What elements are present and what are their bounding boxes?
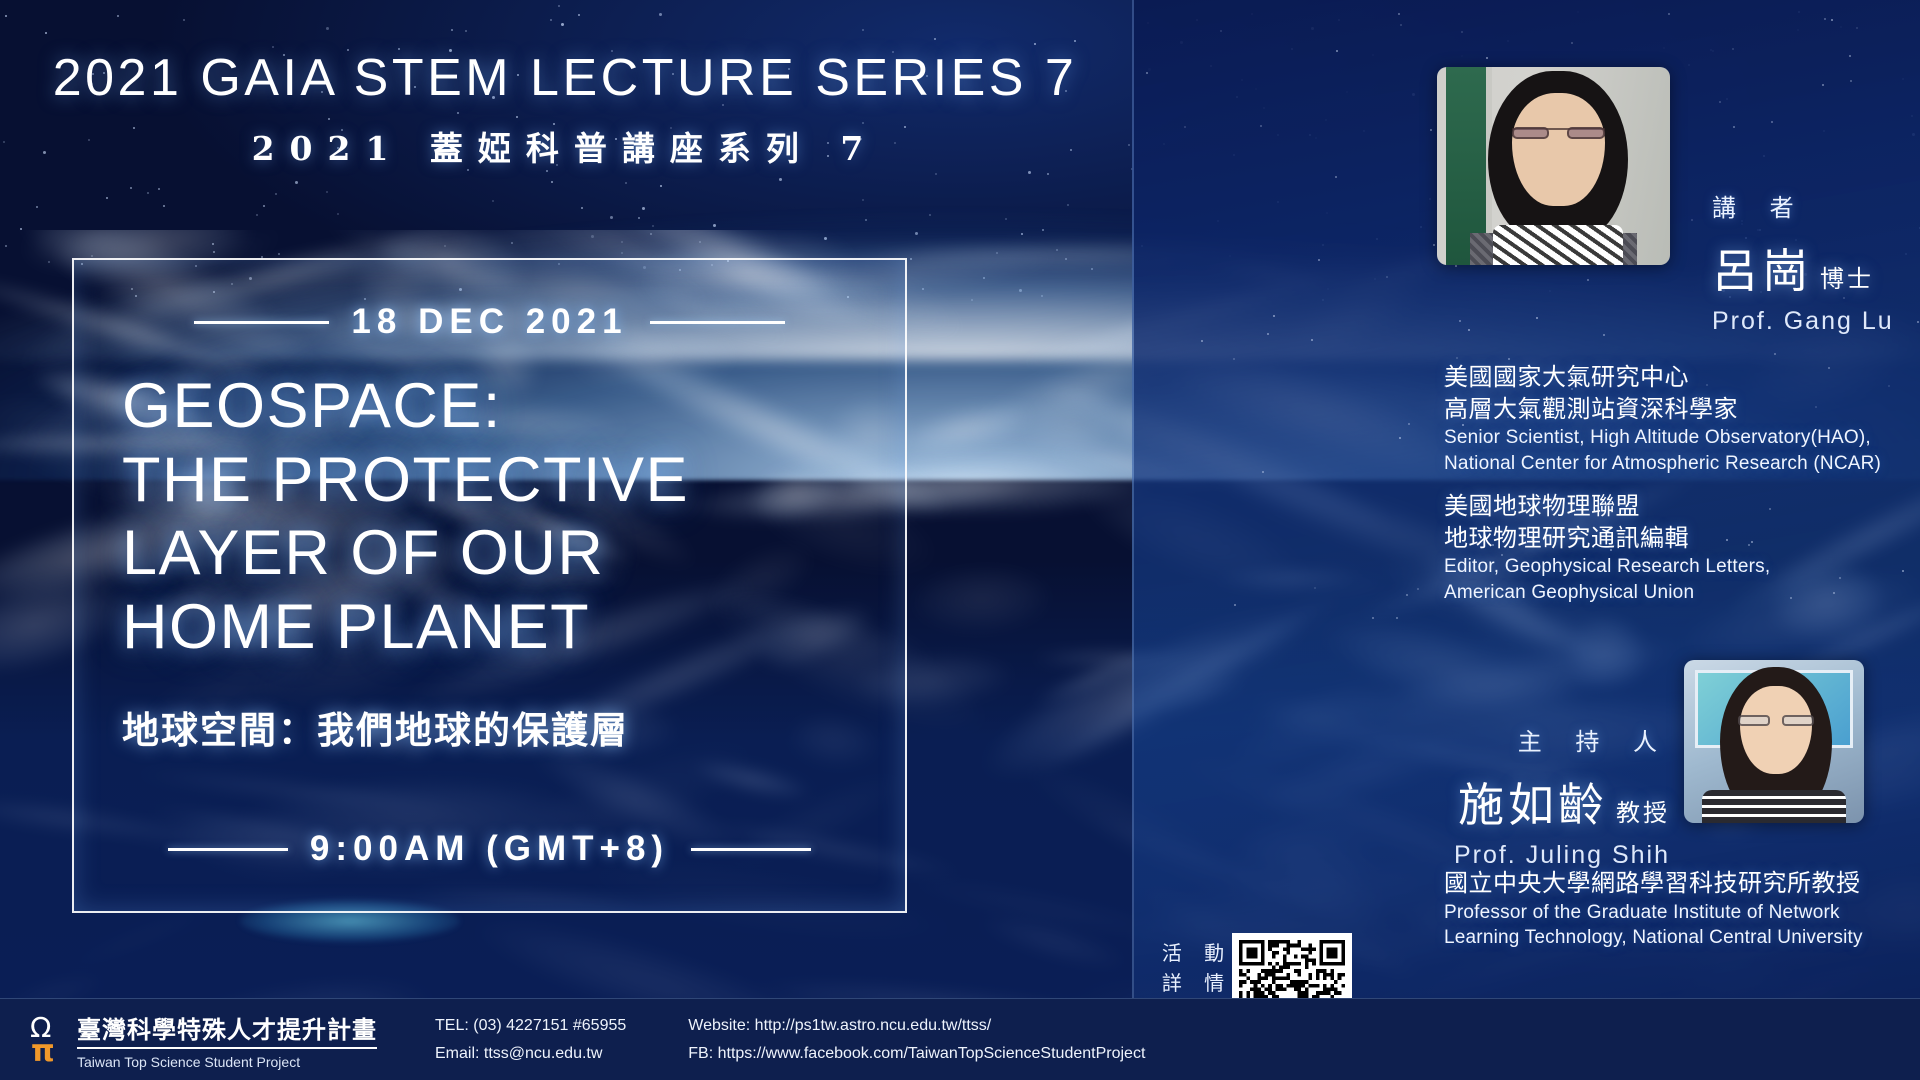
contact-email[interactable]: Email: ttss@ncu.edu.tw [435,1040,626,1068]
speaker-info: 講 者 呂崗 博士 Prof. Gang Lu [1712,188,1894,336]
affiliation-en-line-1: Senior Scientist, High Altitude Observat… [1444,425,1906,450]
host-info: 主 持 人 施如齡 教授 Prof. Juling Shih [1442,722,1670,870]
host-name-english: Prof. Juling Shih [1442,841,1670,870]
divider-left [194,321,329,324]
host-affiliation: 國立中央大學網路學習科技研究所教授 Professor of the Gradu… [1444,868,1906,951]
host-portrait [1684,660,1864,823]
poster-header: 2021 GAIA STEM LECTURE SERIES 7 2021 蓋婭科… [0,48,1130,170]
speaker-degree: 博士 [1820,259,1874,294]
host-affiliation-zh: 國立中央大學網路學習科技研究所教授 [1444,868,1906,900]
host-affiliation-en-line-1: Professor of the Graduate Institute of N… [1444,900,1906,925]
affiliation2-zh-line-1: 美國地球物理聯盟 [1444,491,1906,523]
event-date-row: 18 DEC 2021 [74,302,905,342]
event-time: 9:00AM (GMT+8) [310,829,669,869]
page-title: 2021 GAIA STEM LECTURE SERIES 7 [0,48,1130,108]
talk-title-chinese: 地球空間：我們地球的保護層 [122,700,882,754]
facebook-link[interactable]: FB: https://www.facebook.com/TaiwanTopSc… [688,1040,1145,1068]
host-photo [1684,660,1864,823]
website-link[interactable]: Website: http://ps1tw.astro.ncu.edu.tw/t… [688,1012,1145,1040]
org-name-chinese: 臺灣科學特殊人才提升計畫 [77,1010,377,1049]
host-name-chinese: 施如齡 [1458,769,1608,835]
portrait-face [1512,93,1605,206]
event-detail-label-line-2: 詳 情 [1154,968,1240,998]
organization-logo: Ω π 臺灣科學特殊人才提升計畫 Taiwan Top Science Stud… [26,1010,377,1070]
affiliation-zh-line-2: 高層大氣觀測站資深科學家 [1444,394,1906,426]
talk-title: GEOSPACE: THE PROTECTIVE LAYER OF OUR HO… [122,370,862,665]
speaker-name-english: Prof. Gang Lu [1712,307,1894,336]
contact-tel: TEL: (03) 4227151 #65955 [435,1012,626,1040]
affiliation2-en-line-1: Editor, Geophysical Research Letters, [1444,554,1906,579]
host-affiliation-en-line-2: Learning Technology, National Central Un… [1444,925,1906,950]
event-detail-label-line-1: 活 動 [1154,938,1240,968]
time-divider-left [168,848,288,851]
speaker-role-label: 講 者 [1712,188,1894,223]
time-divider-right [691,848,811,851]
speaker-photo [1437,67,1670,265]
host-role-label: 主 持 人 [1442,722,1670,757]
portrait-scarf [1493,225,1623,265]
org-name-english: Taiwan Top Science Student Project [77,1054,377,1070]
affiliation-en-line-2: National Center for Atmospheric Research… [1444,451,1906,476]
affiliation2-zh-line-2: 地球物理研究通訊編輯 [1444,523,1906,555]
talk-title-line-1: GEOSPACE: [122,370,862,444]
speaker-affiliation-1: 美國國家大氣研究中心 高層大氣觀測站資深科學家 Senior Scientist… [1444,362,1906,476]
omega-pi-logo-icon: Ω π [26,1014,68,1066]
speaker-name-chinese: 呂崗 [1712,235,1812,301]
affiliation2-en-line-2: American Geophysical Union [1444,580,1906,605]
event-detail-label: 活 動 詳 情 [1154,938,1240,998]
event-date: 18 DEC 2021 [351,302,627,342]
page-title-chinese: 2021 蓋婭科普講座系列 7 [0,122,1130,170]
talk-title-line-3: LAYER OF OUR [122,517,862,591]
divider-right [650,321,785,324]
talk-title-line-2: THE PROTECTIVE [122,444,862,518]
host-glasses-icon [1738,715,1814,728]
talk-details-frame: 18 DEC 2021 GEOSPACE: THE PROTECTIVE LAY… [72,258,907,913]
speaker-portrait [1437,67,1670,265]
link-info: Website: http://ps1tw.astro.ncu.edu.tw/t… [688,1012,1145,1068]
organization-name: 臺灣科學特殊人才提升計畫 Taiwan Top Science Student … [77,1010,377,1070]
speaker-affiliation-2: 美國地球物理聯盟 地球物理研究通訊編輯 Editor, Geophysical … [1444,491,1906,605]
lecture-poster: 2021 GAIA STEM LECTURE SERIES 7 2021 蓋婭科… [0,0,1920,1080]
event-time-row: 9:00AM (GMT+8) [74,829,905,869]
pi-icon: π [31,1038,55,1066]
talk-title-line-4: HOME PLANET [122,591,862,665]
host-face [1740,686,1812,774]
host-body [1702,790,1846,823]
glasses-icon [1512,128,1605,146]
contact-info: TEL: (03) 4227151 #65955 Email: ttss@ncu… [435,1012,626,1068]
host-degree: 教授 [1616,793,1670,828]
footer-bar: Ω π 臺灣科學特殊人才提升計畫 Taiwan Top Science Stud… [0,998,1920,1080]
affiliation-zh-line-1: 美國國家大氣研究中心 [1444,362,1906,394]
